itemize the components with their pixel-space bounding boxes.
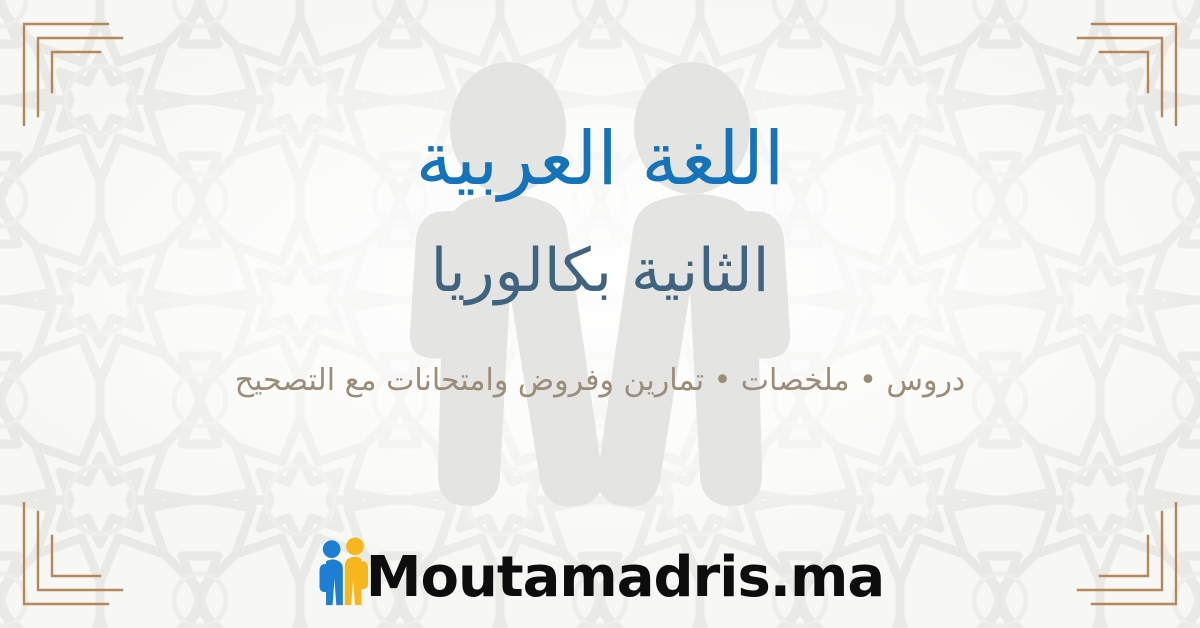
page-title: اللغة العربية xyxy=(416,120,785,198)
brand-name: Moutamadris.ma xyxy=(366,550,884,606)
content-stack: اللغة العربية الثانية بكالوريا دروس • مل… xyxy=(0,0,1200,628)
brand-lockup[interactable]: Moutamadris.ma xyxy=(316,536,884,606)
page-subtitle: الثانية بكالوريا xyxy=(431,238,770,304)
two-students-logo-icon xyxy=(316,536,372,608)
share-card: اللغة العربية الثانية بكالوريا دروس • مل… xyxy=(0,0,1200,628)
page-description: دروس • ملخصات • تمارين وفروض وامتحانات م… xyxy=(235,362,966,400)
